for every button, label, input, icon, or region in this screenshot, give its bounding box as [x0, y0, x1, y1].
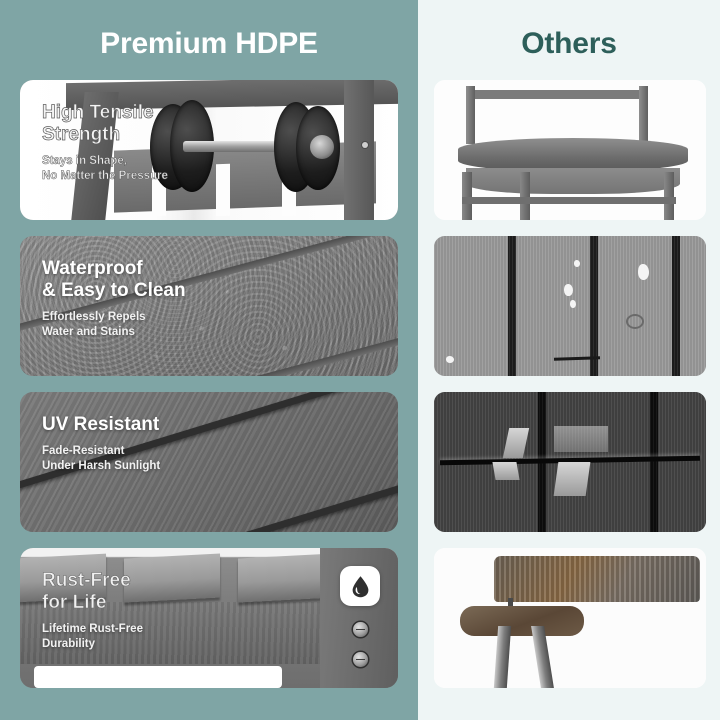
comparison-card-cracked-wood: [434, 392, 706, 532]
comparison-card-worn-chair: [434, 80, 706, 220]
feature-title: Waterproof & Easy to Clean: [42, 258, 267, 302]
feature-subtitle: Fade-Resistant Under Harsh Sunlight: [42, 444, 267, 473]
cracked-splintered-wood-photo: [434, 392, 706, 532]
comparison-infographic: Premium HDPE: [0, 0, 720, 720]
feature-card-uv-resistant: UV Resistant Fade-Resistant Under Harsh …: [20, 392, 398, 532]
feature-subtitle: Effortlessly Repels Water and Stains: [42, 310, 267, 339]
comparison-card-stained-planks: [434, 236, 706, 376]
feature-card-text: UV Resistant Fade-Resistant Under Harsh …: [42, 414, 267, 473]
premium-hdpe-panel: Premium HDPE: [0, 0, 418, 720]
feature-title: Rust-Free for Life: [42, 570, 267, 614]
premium-hdpe-heading: Premium HDPE: [0, 0, 418, 61]
feature-card-text: Waterproof & Easy to Clean Effortlessly …: [42, 258, 267, 340]
feature-card-high-tensile-strength: High Tensile Strength Stays in Shape, No…: [20, 80, 398, 220]
stained-painted-planks-photo: [434, 236, 706, 376]
others-heading: Others: [418, 0, 720, 61]
rusted-chair-photo: [434, 548, 706, 688]
feature-card-text: High Tensile Strength Stays in Shape, No…: [42, 102, 267, 184]
others-panel: Others: [418, 0, 720, 720]
comparison-card-rusted-chair: [434, 548, 706, 688]
screw-head-icon: [353, 652, 368, 667]
screw-head-icon: [353, 622, 368, 637]
comparison-card-list: [434, 80, 706, 688]
feature-card-text: Rust-Free for Life Lifetime Rust-Free Du…: [42, 570, 267, 652]
feature-title: UV Resistant: [42, 414, 267, 436]
feature-card-list: High Tensile Strength Stays in Shape, No…: [20, 80, 398, 688]
feature-title: High Tensile Strength: [42, 102, 267, 146]
feature-card-waterproof: Waterproof & Easy to Clean Effortlessly …: [20, 236, 398, 376]
feature-subtitle: Lifetime Rust-Free Durability: [42, 622, 267, 651]
feature-card-rust-free: Rust-Free for Life Lifetime Rust-Free Du…: [20, 548, 398, 688]
waterproof-badge: [340, 566, 380, 606]
feature-subtitle: Stays in Shape, No Matter the Pressure: [42, 154, 267, 183]
water-drop-icon: [351, 575, 370, 598]
weathered-gray-chair-photo: [434, 80, 706, 220]
